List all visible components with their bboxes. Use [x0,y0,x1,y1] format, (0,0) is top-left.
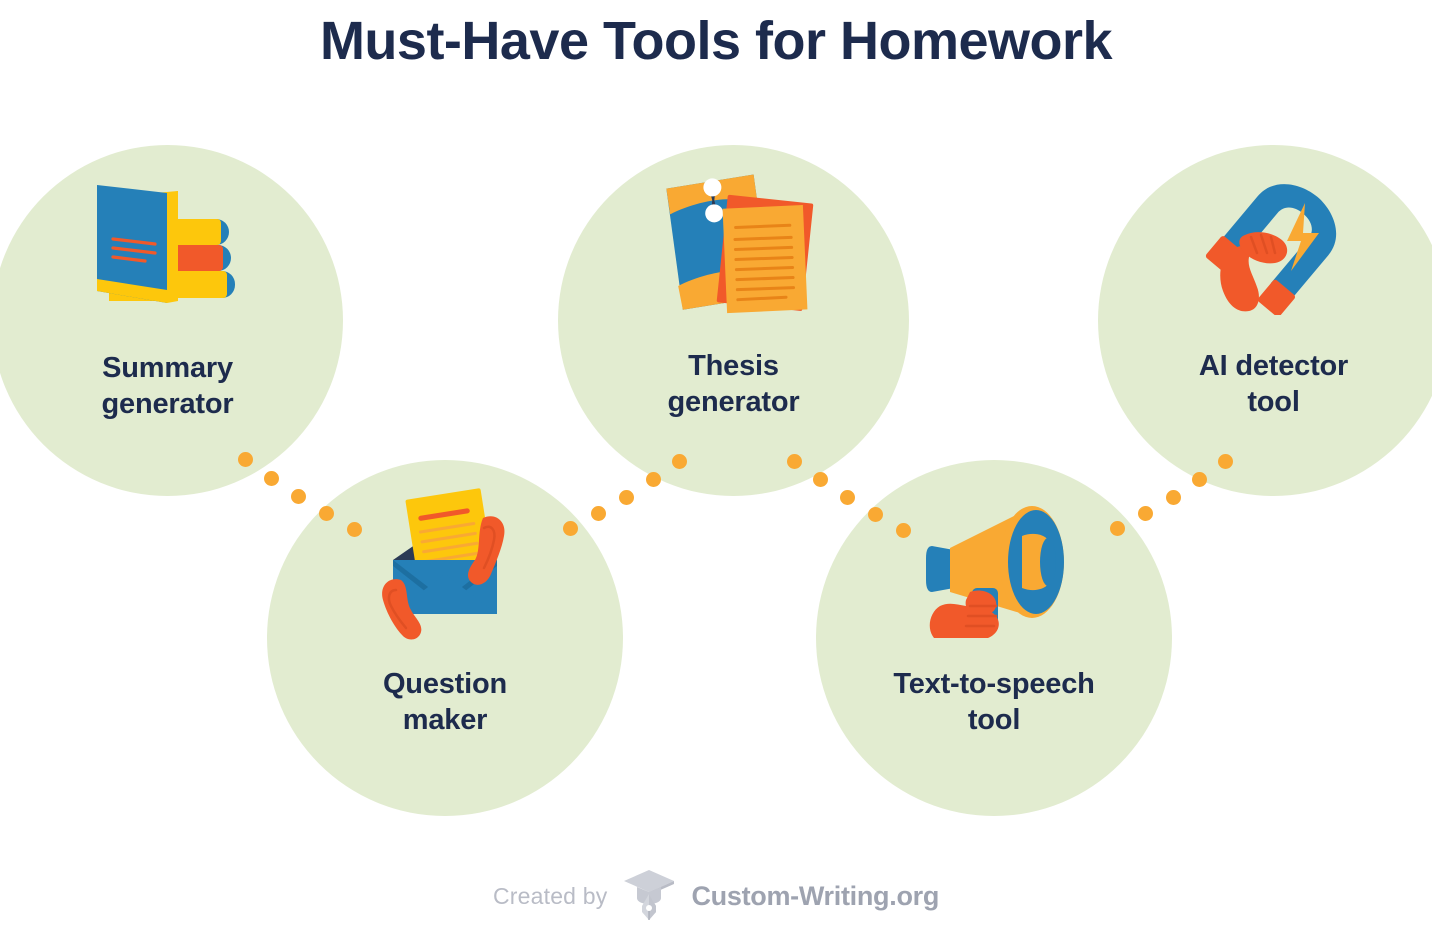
connector-dot [291,489,306,504]
footer: Created by Custom-Writing.org [0,866,1432,927]
connector-dot [1192,472,1207,487]
connector-dot [319,506,334,521]
connector-dot [868,507,883,522]
footer-created-by-label: Created by [493,883,608,910]
node-label-thesis-generator: Thesis generator [558,348,909,421]
page-title: Must-Have Tools for Homework [0,10,1432,72]
node-label-line1: Question [267,666,623,702]
connector-dot [813,472,828,487]
graduation-cap-pen-logo-icon [621,866,677,927]
footer-brand-name: Custom-Writing.org [691,881,939,912]
node-ai-detector-tool[interactable]: AI detector tool [1098,145,1432,496]
node-label-text-to-speech-tool: Text-to-speech tool [816,666,1172,739]
connector-dot [1138,506,1153,521]
connector-dot [672,454,687,469]
connector-dot [787,454,802,469]
connector-dot [646,472,661,487]
node-label-summary-generator: Summary generator [0,350,343,423]
megaphone-icon [910,488,1078,645]
books-icon [83,183,253,313]
clasp-envelope-documents-icon [648,167,820,322]
node-label-line2: tool [816,702,1172,738]
node-label-line1: AI detector [1098,348,1432,384]
connector-dot [619,490,634,505]
node-label-line1: Text-to-speech [816,666,1172,702]
connector-dot [264,471,279,486]
connector-dot [840,490,855,505]
node-label-question-maker: Question maker [267,666,623,739]
node-label-ai-detector-tool: AI detector tool [1098,348,1432,421]
node-label-line2: generator [558,384,909,420]
node-label-line2: maker [267,702,623,738]
connector-dot [1110,521,1125,536]
envelope-letter-icon [365,488,525,645]
node-summary-generator[interactable]: Summary generator [0,145,343,496]
connector-dot [896,523,911,538]
infographic-canvas: Must-Have Tools for Homework [0,0,1432,926]
node-thesis-generator[interactable]: Thesis generator [558,145,909,496]
node-label-line2: generator [0,386,343,422]
connector-dot [563,521,578,536]
magnet-icon [1199,175,1349,320]
connector-dot [347,522,362,537]
connector-dot [591,506,606,521]
connector-dot [1166,490,1181,505]
connector-dot [1218,454,1233,469]
node-label-line2: tool [1098,384,1432,420]
connector-dot [238,452,253,467]
node-label-line1: Thesis [558,348,909,384]
node-label-line1: Summary [0,350,343,386]
